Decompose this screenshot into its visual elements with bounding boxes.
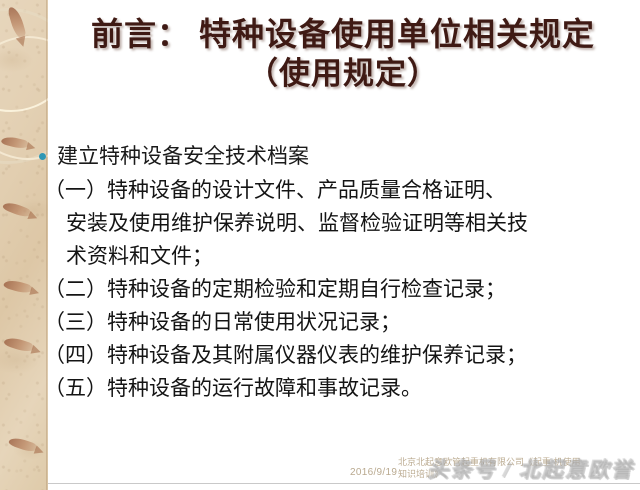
footer-divider	[48, 483, 640, 484]
numbered-item-2-text: 特种设备的定期检验和定期自行检查记录；	[107, 277, 506, 301]
numbered-item-3-label: （三）	[44, 310, 107, 334]
numbered-item-4-label: （四）	[44, 343, 107, 367]
title-line-secondary: （使用规定）	[58, 54, 628, 94]
slide-title: 前言： 特种设备使用单位相关规定 （使用规定）	[58, 14, 628, 94]
numbered-item-2-label: （二）	[44, 277, 107, 301]
footer-date: 2016/9/19	[350, 467, 397, 478]
numbered-item-1-cont-b: 术资料和文件；	[44, 240, 634, 273]
numbered-item-5-text: 特种设备的运行故障和事故记录。	[107, 376, 422, 400]
bullet-list-item: 建立特种设备安全技术档案	[34, 140, 634, 172]
numbered-item-4-text: 特种设备及其附属仪器仪表的维护保养记录；	[107, 343, 527, 367]
numbered-item-5: （五）特种设备的运行故障和事故记录。	[34, 372, 634, 405]
numbered-item-1-cont-a: 安装及使用维护保养说明、监督检验证明等相关技	[44, 207, 634, 240]
title-line-primary: 前言： 特种设备使用单位相关规定	[58, 14, 628, 54]
slide-footer: 2016/9/19 北京北起意欧管起重机有限公司《起重 机使用知识培训》 头条号…	[0, 448, 640, 490]
numbered-item-1: （一）特种设备的设计文件、产品质量合格证明、 安装及使用维护保养说明、监督检验证…	[34, 174, 634, 273]
bullet-dot-icon	[39, 153, 46, 160]
slide-body: 建立特种设备安全技术档案 （一）特种设备的设计文件、产品质量合格证明、 安装及使…	[34, 140, 634, 405]
numbered-item-4: （四）特种设备及其附属仪器仪表的维护保养记录；	[34, 339, 634, 372]
numbered-item-2: （二）特种设备的定期检验和定期自行检查记录；	[34, 273, 634, 306]
numbered-item-1-label: （一）	[44, 178, 107, 202]
numbered-item-5-label: （五）	[44, 376, 107, 400]
watermark-text: 头条号 / 北起意欧誉	[428, 459, 634, 482]
numbered-item-1-text: 特种设备的设计文件、产品质量合格证明、	[107, 178, 506, 202]
numbered-item-3: （三）特种设备的日常使用状况记录；	[34, 306, 634, 339]
numbered-item-3-text: 特种设备的日常使用状况记录；	[107, 310, 401, 334]
bullet-item-label: 建立特种设备安全技术档案	[57, 140, 309, 172]
presentation-slide: 前言： 特种设备使用单位相关规定 （使用规定） 建立特种设备安全技术档案 （一）…	[0, 0, 640, 490]
